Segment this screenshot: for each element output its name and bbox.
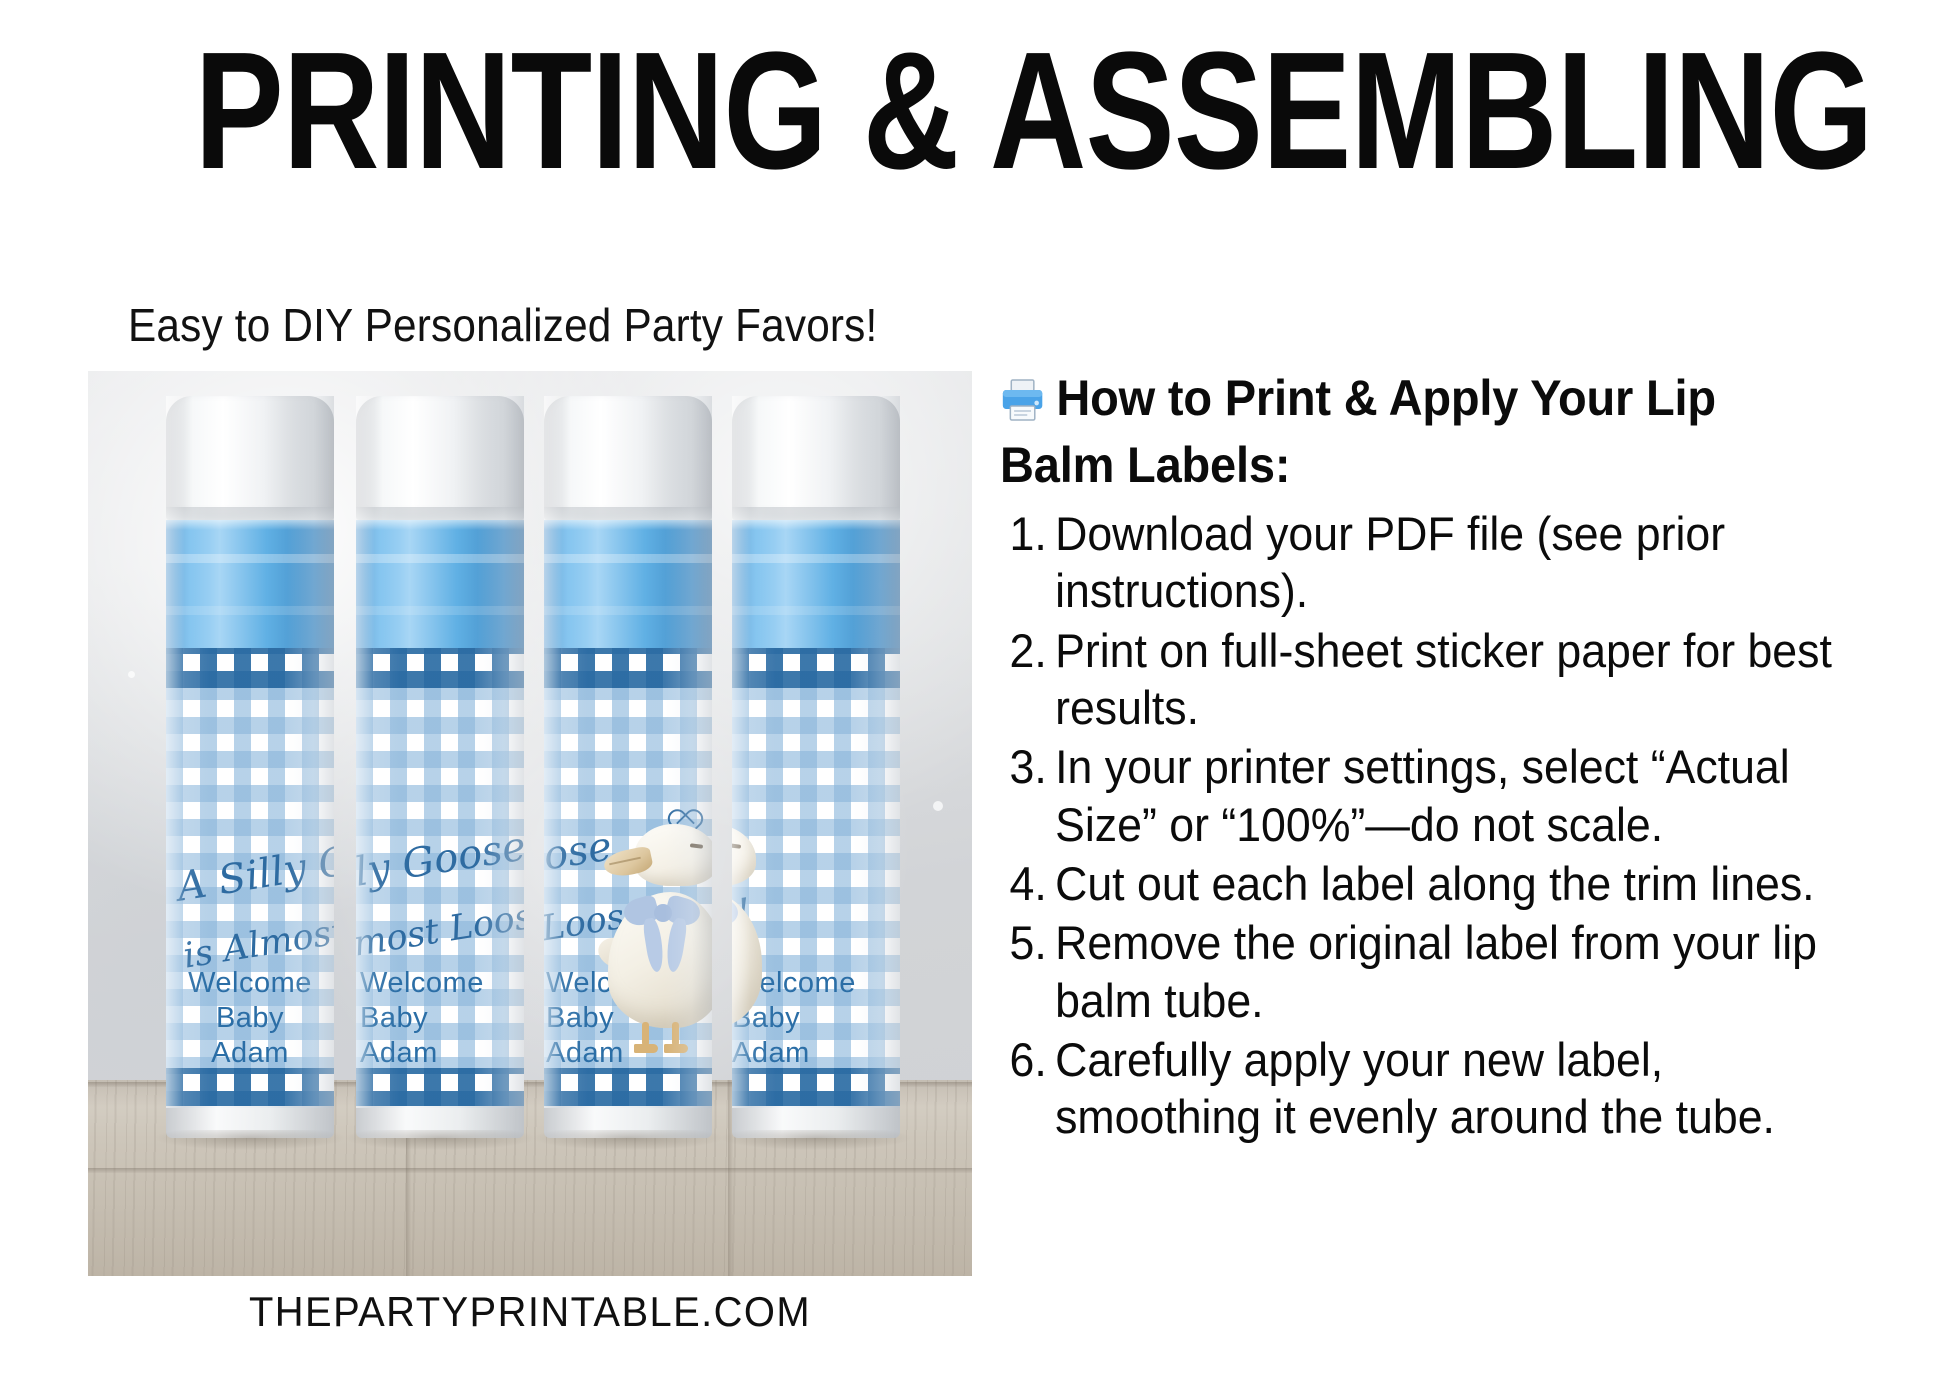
label-welcome-line-1: Welcome bbox=[166, 966, 334, 1001]
instruction-step: In your printer settings, select “Actual… bbox=[1000, 738, 1836, 853]
label-welcome-line-3: Adam bbox=[360, 1036, 524, 1071]
label-welcome-block: Welcome Baby Adam bbox=[166, 966, 334, 1070]
label-welcome-line-3: Adam bbox=[732, 1036, 900, 1071]
label-welcome-line-3: Adam bbox=[546, 1036, 712, 1071]
instructions-heading-text: How to Print & Apply Your Lip Balm Label… bbox=[1000, 370, 1716, 493]
tube-balm-band bbox=[732, 520, 900, 648]
tube-balm-band bbox=[166, 520, 334, 648]
product-photo: A Silly Goose is Almost Loose! Welcome B… bbox=[88, 371, 972, 1276]
tube-cap bbox=[732, 396, 900, 520]
label-welcome-block: Welcome Baby Adam bbox=[732, 966, 900, 1070]
tube-balm-band bbox=[544, 520, 712, 648]
printer-icon bbox=[1000, 375, 1045, 435]
label-welcome-line-1: Welcome bbox=[732, 966, 900, 1001]
tube-label: A Silly Goose is Almost Loose! Welcome B… bbox=[166, 648, 334, 1108]
instructions-panel: How to Print & Apply Your Lip Balm Label… bbox=[1000, 368, 1880, 1148]
lip-balm-tube: A Silly Goose is Almost Loose! Welcome B… bbox=[732, 396, 900, 1108]
instructions-heading-colon: : bbox=[1275, 437, 1290, 493]
instructions-heading: How to Print & Apply Your Lip Balm Label… bbox=[1000, 368, 1827, 495]
instruction-step: Cut out each label along the trim lines. bbox=[1000, 855, 1836, 912]
tube-cap bbox=[544, 396, 712, 520]
subtitle: Easy to DIY Personalized Party Favors! bbox=[128, 298, 877, 352]
label-welcome-block: Welcome Baby Adam bbox=[544, 966, 712, 1070]
instruction-step-list: Download your PDF file (see prior instru… bbox=[1000, 505, 1880, 1146]
tube-label: A Silly Goose is Almost Loose! Welcome B… bbox=[732, 648, 900, 1108]
lip-balm-tube: A Silly Goose is Almost Loose! Welcome B… bbox=[544, 396, 712, 1108]
page-title: PRINTING & ASSEMBLING bbox=[195, 28, 1752, 195]
label-welcome-line-2: Baby bbox=[360, 1001, 524, 1036]
instruction-step: Carefully apply your new label, smoothin… bbox=[1000, 1031, 1836, 1146]
lip-balm-tube: A Silly Goose is Almost Loose! Welcome B… bbox=[166, 396, 334, 1108]
label-welcome-line-2: Baby bbox=[732, 1001, 900, 1036]
tube-label: A Silly Goose is Almost Loose! Welcome B… bbox=[544, 648, 712, 1108]
instruction-step: Print on full-sheet sticker paper for be… bbox=[1000, 622, 1836, 737]
lip-balm-tube: A Silly Goose is Almost Loose! Welcome B… bbox=[356, 396, 524, 1108]
tube-cap bbox=[356, 396, 524, 520]
label-welcome-line-3: Adam bbox=[166, 1036, 334, 1071]
instruction-step: Download your PDF file (see prior instru… bbox=[1000, 505, 1836, 620]
label-welcome-line-2: Baby bbox=[546, 1001, 712, 1036]
label-welcome-block: Welcome Baby Adam bbox=[356, 966, 524, 1070]
label-welcome-line-1: Welcome bbox=[546, 966, 712, 1001]
footer-url: THEPARTYPRINTABLE.COM bbox=[110, 1288, 950, 1336]
label-welcome-line-2: Baby bbox=[166, 1001, 334, 1036]
label-welcome-line-1: Welcome bbox=[360, 966, 524, 1001]
tube-label: A Silly Goose is Almost Loose! Welcome B… bbox=[356, 648, 524, 1108]
tube-cap bbox=[166, 396, 334, 520]
tube-balm-band bbox=[356, 520, 524, 648]
instruction-step: Remove the original label from your lip … bbox=[1000, 914, 1836, 1029]
